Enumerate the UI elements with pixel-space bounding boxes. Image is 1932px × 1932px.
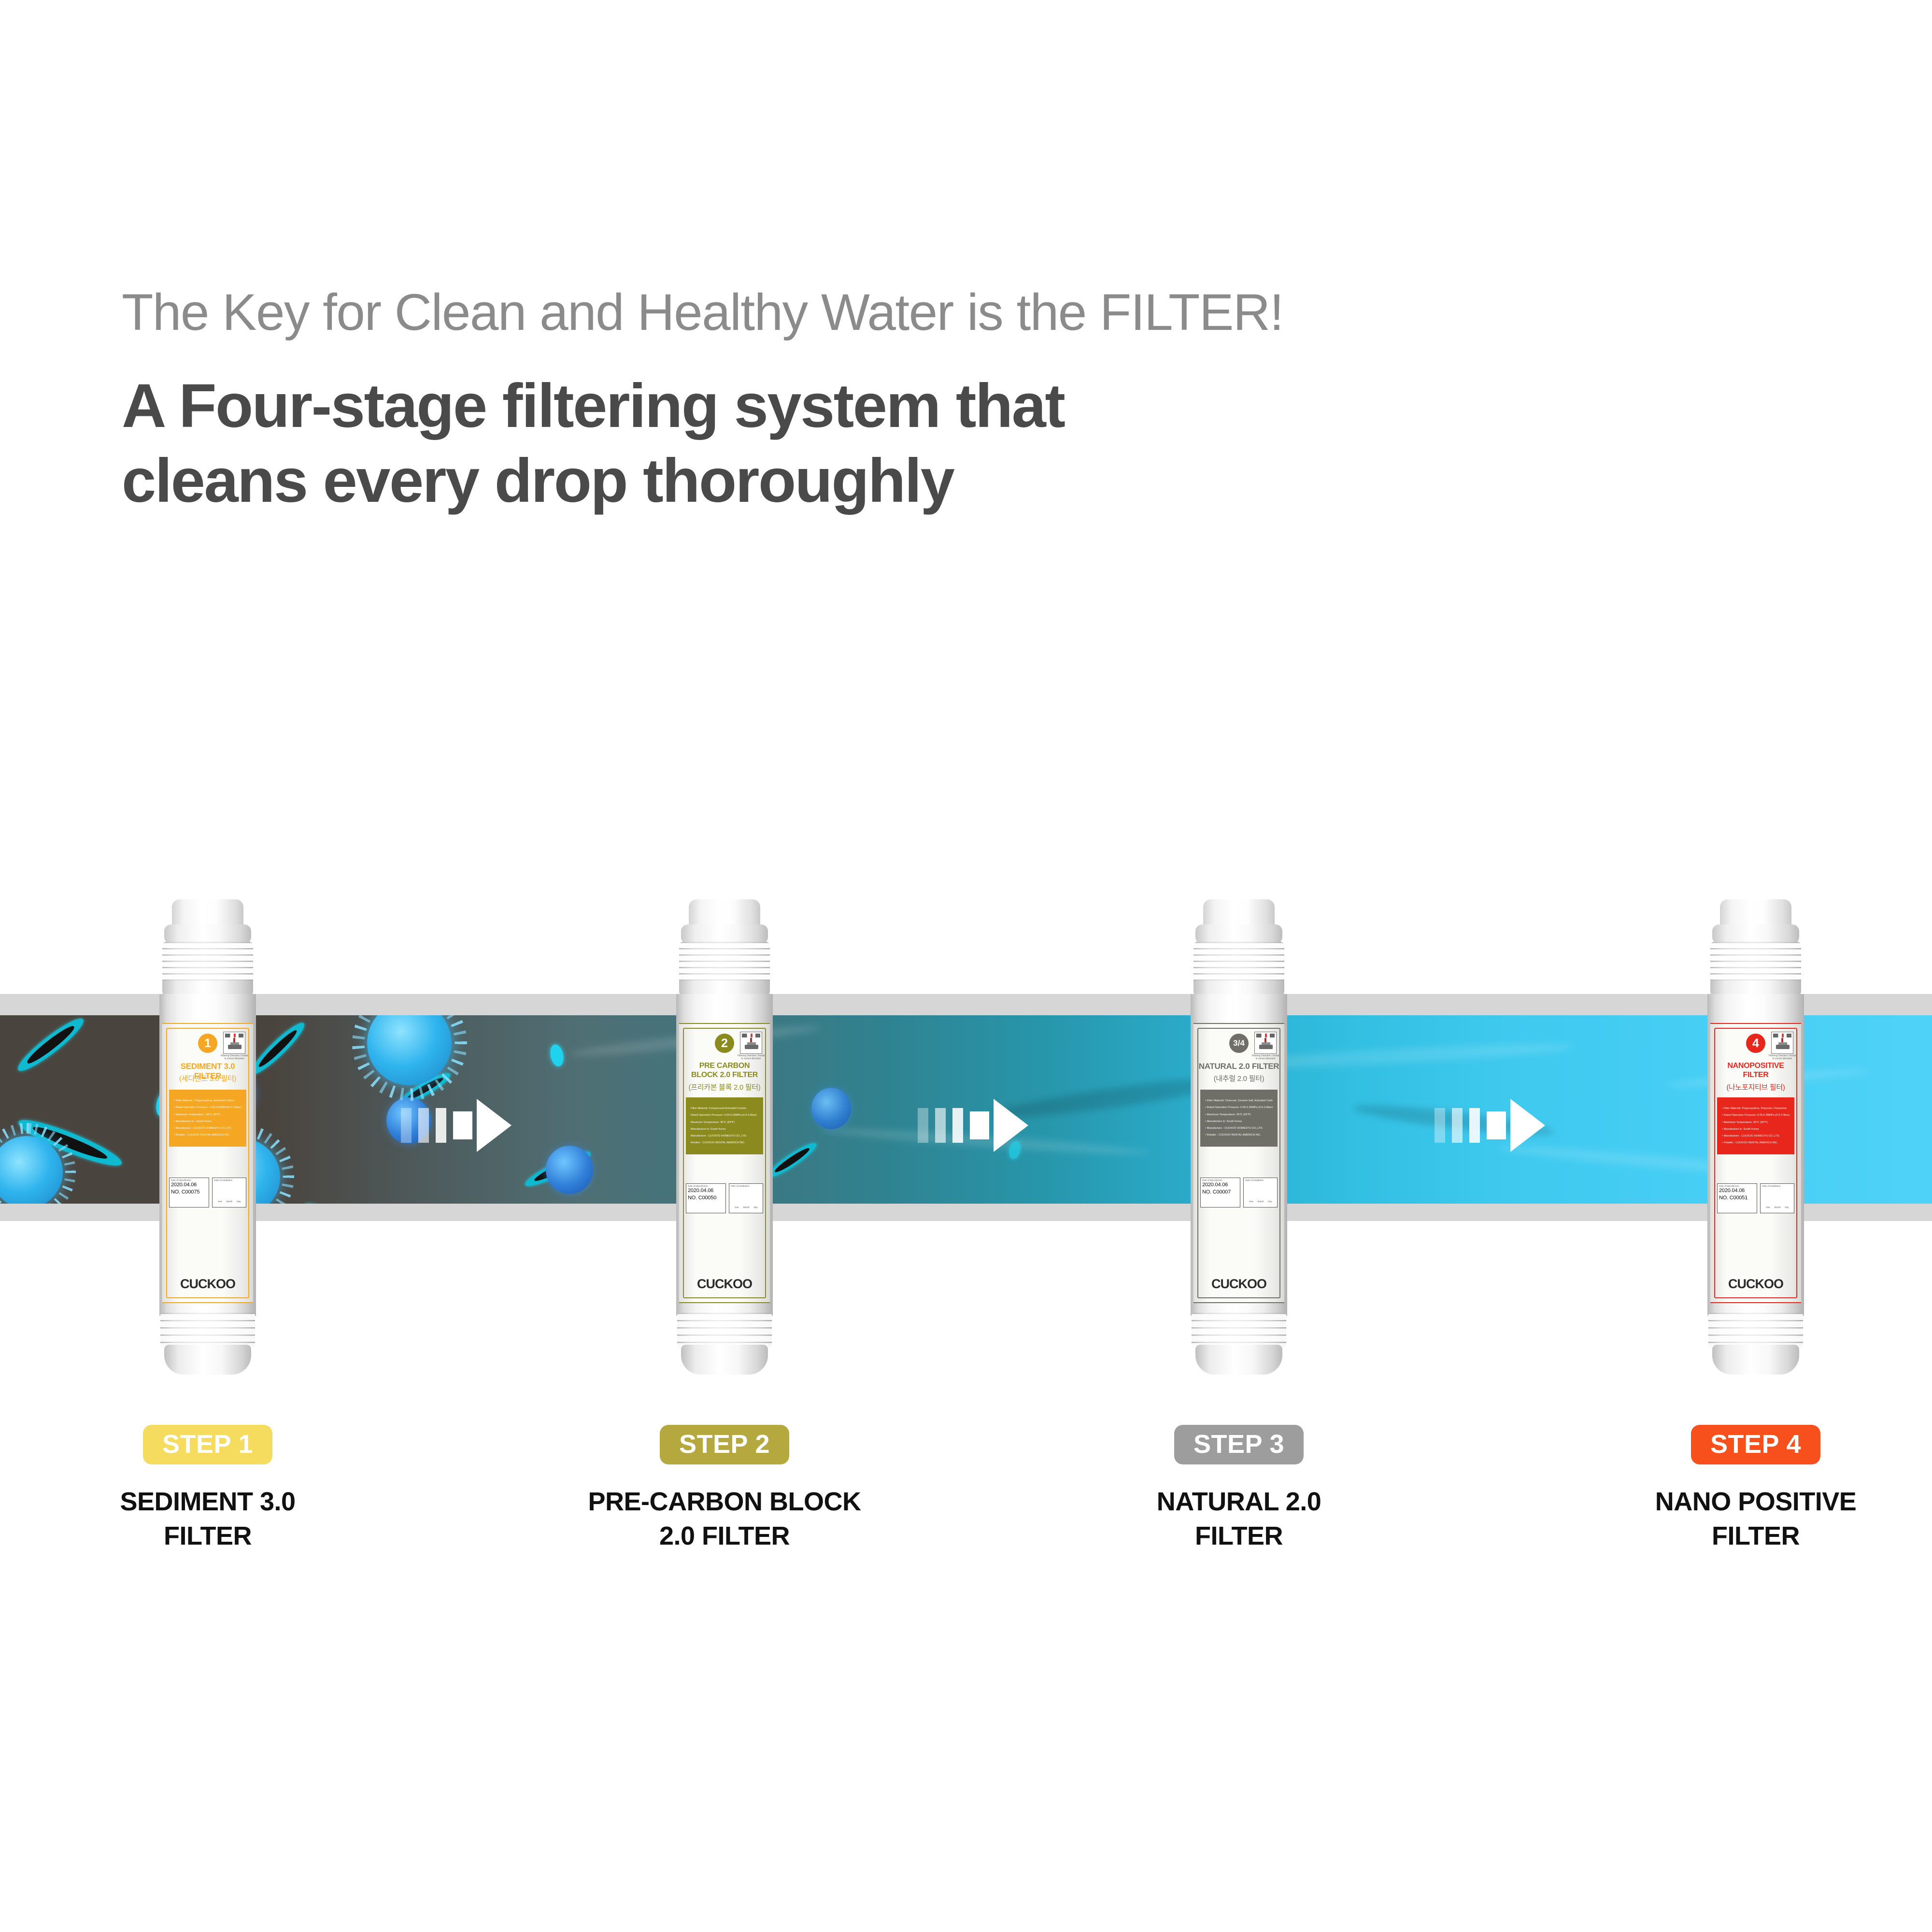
label-title-line: NATURAL 2.0 FILTER: [1198, 1062, 1279, 1071]
spec-line: • Retailer : CUCKOO RENTAL AMERICA INC.: [1722, 1139, 1790, 1146]
date-rule-label: Year: [218, 1200, 222, 1203]
installation-date-label: Date of Installation: [731, 1185, 761, 1187]
spec-line: Filter Material: Compressed Activated Ca…: [691, 1105, 758, 1112]
step-caption-line: FILTER: [1601, 1519, 1910, 1553]
bacteria-icon: [14, 1015, 88, 1077]
installation-date-box: Date of InstallationYearMonthDay: [1243, 1178, 1278, 1207]
label-title: NATURAL 2.0 FILTER: [1198, 1062, 1279, 1071]
label-korean-title: (내추럴 2.0 필터): [1198, 1073, 1279, 1083]
arrow-trail-bar: [401, 1108, 412, 1143]
spec-line: • Manufacture : CUCKOO HOMESYS CO.,LTD.: [174, 1125, 241, 1132]
cartridge-threads: [1710, 942, 1801, 983]
serial-number: NO. C00051: [1719, 1194, 1755, 1202]
spec-line: • Rated Operation Pressure: 0.05-0.39MPa…: [1205, 1104, 1273, 1111]
spec-line: • Rated Operation Pressure: 0.05-0.39MPa…: [1722, 1112, 1790, 1119]
cartridge-foot-ring: [160, 1313, 255, 1348]
filter-cartridge-2[interactable]: 2Filtering Direction / Install in correc…: [668, 899, 781, 1392]
arrow-head-icon: [994, 1099, 1028, 1152]
spec-line: • Manufacture in: South Korea: [1722, 1126, 1790, 1133]
manufacture-date-box: Date of Manufacture2020.04.06NO. C00051: [1717, 1183, 1757, 1213]
label-korean-title: (나노포지티브 필터): [1715, 1082, 1796, 1092]
bacteria-icon: [301, 1197, 390, 1204]
icon-top-marks: [1773, 1034, 1791, 1037]
arrow-trail-bar: [952, 1108, 963, 1143]
installation-date-label: Date of Installation: [1245, 1179, 1276, 1181]
flow-arrow-1: [401, 1099, 511, 1152]
install-direction-icon: [740, 1032, 762, 1054]
brand-logo: CUCKOO: [679, 1277, 770, 1292]
headline-line-2: cleans every drop thoroughly: [122, 444, 1716, 519]
step-caption-line: SEDIMENT 3.0: [53, 1485, 362, 1519]
label-step-number: 1: [198, 1034, 217, 1053]
virus-particle-icon: [811, 1088, 851, 1129]
manufacture-date-box: Date of Manufacture2020.04.06NO. C00075: [169, 1178, 209, 1207]
date-rule-label: Month: [1258, 1200, 1264, 1203]
label-korean-title: (프리카본 블록 2.0 필터): [684, 1082, 765, 1092]
arrow-trail-bar: [1435, 1108, 1445, 1143]
cartridge-foot-ring: [1192, 1313, 1286, 1348]
installation-date-box: Date of InstallationYearMonthDay: [729, 1183, 763, 1213]
step-caption-line: 2.0 FILTER: [570, 1519, 879, 1553]
brand-logo: CUCKOO: [162, 1277, 253, 1292]
microbe-icon: [549, 1043, 566, 1067]
step-caption-line: FILTER: [1084, 1519, 1393, 1553]
cartridge-threads: [162, 942, 253, 983]
step-caption-1: SEDIMENT 3.0 FILTER: [53, 1485, 362, 1554]
step-column-3: STEP 3 NATURAL 2.0 FILTER: [1084, 1425, 1393, 1554]
arrow-trail-bar: [418, 1108, 429, 1143]
date-rule-label: Year: [735, 1206, 739, 1208]
cartridge-foot-ring: [1708, 1313, 1803, 1348]
spec-line: • Manufacture in : South Korea: [174, 1118, 241, 1125]
virus-particle-icon: [546, 1146, 593, 1194]
arrow-head-icon: [477, 1099, 511, 1152]
filter-cartridge-1[interactable]: 1Filtering Direction / Install in correc…: [152, 899, 264, 1392]
icon-base: [1259, 1045, 1273, 1049]
label-title-line: FILTER: [1715, 1071, 1796, 1080]
label-korean-title: (세디멘트 3.0 필터): [167, 1073, 248, 1083]
icon-top-marks: [742, 1034, 760, 1037]
arrow-trail-bar: [918, 1108, 928, 1143]
manufacture-date-value: 2020.04.06: [688, 1187, 724, 1194]
headline-line-1: A Four-stage filtering system that: [122, 369, 1716, 444]
step-caption-line: PRE-CARBON BLOCK: [570, 1485, 879, 1519]
cartridge-label: 4Filtering Direction / Install in correc…: [1710, 1023, 1801, 1303]
spec-line: • Filter Material: Polypropylene, Polyes…: [1722, 1105, 1790, 1112]
install-direction-caption: Filtering Direction / Install in correct…: [737, 1054, 765, 1061]
label-spec-block: • Filter Material: Polypropylene, Polyes…: [1717, 1097, 1794, 1154]
step-badge-2: STEP 2: [660, 1425, 789, 1464]
date-rule-label: Month: [1775, 1206, 1781, 1208]
step-caption-line: NATURAL 2.0: [1084, 1485, 1393, 1519]
cartridge-collar: [1195, 924, 1282, 944]
cartridge-neck: [1720, 899, 1791, 928]
arrow-trail-bar: [1469, 1108, 1480, 1143]
label-step-number: 4: [1746, 1034, 1765, 1053]
spec-line: • Retailer : CUCKOO RENTAL AMERICA INC.: [1205, 1132, 1273, 1138]
arrow-stem: [1487, 1111, 1506, 1139]
manufacture-date-box: Date of Manufacture2020.04.06NO. C00050: [686, 1183, 726, 1213]
install-direction-icon: [223, 1032, 245, 1054]
cartridge-threads: [1193, 942, 1284, 983]
spec-line: Maximum Temperature: 35℃ (95℉): [691, 1119, 758, 1126]
icon-base: [228, 1045, 241, 1049]
install-direction-caption: Filtering Direction / Install in correct…: [1251, 1054, 1279, 1061]
arrow-stem: [970, 1111, 989, 1139]
date-rule-label: Day: [1785, 1206, 1789, 1208]
cartridge-collar: [1712, 924, 1799, 944]
install-direction-icon: [1254, 1032, 1277, 1054]
manufacture-date-box: Date of Manufacture2020.04.06NO. C00007: [1200, 1178, 1240, 1207]
step-caption-4: NANO POSITIVE FILTER: [1601, 1485, 1910, 1554]
step-caption-3: NATURAL 2.0 FILTER: [1084, 1485, 1393, 1554]
cartridge-label: 2Filtering Direction / Install in correc…: [679, 1023, 770, 1303]
label-spec-block: • Filter Material : Polypropylene, Activ…: [169, 1090, 246, 1147]
installation-date-rule: YearMonthDay: [1763, 1206, 1791, 1208]
installation-date-box: Date of InstallationYearMonthDay: [212, 1178, 246, 1207]
band-border-top: [0, 994, 1932, 1015]
installation-date-rule: YearMonthDay: [732, 1206, 760, 1208]
step-column-2: STEP 2 PRE-CARBON BLOCK 2.0 FILTER: [570, 1425, 879, 1554]
flow-arrow-2: [918, 1099, 1028, 1152]
installation-date-box: Date of InstallationYearMonthDay: [1760, 1183, 1794, 1213]
manufacture-date-value: 2020.04.06: [171, 1181, 207, 1189]
cartridge-neck: [1203, 899, 1275, 928]
installation-date-label: Date of Installation: [1762, 1185, 1792, 1187]
virus-icon: [0, 1136, 63, 1204]
filter-cartridge-3[interactable]: 3/4Filtering Direction / Install in corr…: [1183, 899, 1295, 1392]
cartridge-threads: [679, 942, 770, 983]
date-rule-label: Year: [1249, 1200, 1253, 1203]
cartridge-base-cap: [164, 1345, 251, 1375]
cartridge-foot-ring: [677, 1313, 772, 1348]
serial-number: NO. C00075: [171, 1189, 207, 1196]
heading-block: The Key for Clean and Healthy Water is t…: [122, 285, 1716, 519]
manufacture-date-value: 2020.04.06: [1719, 1187, 1755, 1194]
icon-base: [745, 1045, 758, 1049]
spec-line: • Filter Material: Charcoal, Ceramic bal…: [1205, 1097, 1273, 1104]
spec-line: Manufacture : CUCKOO HOMESYS CO.,LTD.: [691, 1133, 758, 1139]
install-direction-caption: Filtering Direction / Install in correct…: [1768, 1054, 1796, 1061]
cartridge-collar: [681, 924, 768, 944]
spec-line: Manufacture in: South Korea: [691, 1126, 758, 1133]
brand-logo: CUCKOO: [1710, 1277, 1801, 1292]
label-title: NANOPOSITIVEFILTER: [1715, 1062, 1796, 1080]
icon-top-marks: [225, 1034, 243, 1037]
cartridge-base-cap: [1195, 1345, 1282, 1375]
spec-line: Retailer : CUCKOO RENTAL AMERICA INC.: [691, 1139, 758, 1146]
step-badge-3: STEP 3: [1174, 1425, 1304, 1464]
step-caption-line: FILTER: [53, 1519, 362, 1553]
cartridge-neck: [689, 899, 760, 928]
spec-line: • Filter Material : Polypropylene, Activ…: [174, 1097, 241, 1104]
serial-number: NO. C00007: [1202, 1189, 1238, 1196]
step-badge-1: STEP 1: [143, 1425, 272, 1464]
spec-line: • Manufacture : CUCKOO HOMESYS CO.,LTD.: [1722, 1133, 1790, 1139]
spec-line: • Maximum Temperature : 35℃ (95℉): [174, 1111, 241, 1118]
label-title: PRE CARBONBLOCK 2.0 FILTER: [684, 1062, 765, 1080]
install-direction-caption: Filtering Direction / Install in correct…: [220, 1054, 248, 1061]
cartridge-label: 1Filtering Direction / Install in correc…: [162, 1023, 253, 1303]
step-caption-line: NANO POSITIVE: [1601, 1485, 1910, 1519]
page-title: A Four-stage filtering system that clean…: [122, 369, 1716, 519]
icon-top-marks: [1256, 1034, 1275, 1037]
step-column-1: STEP 1 SEDIMENT 3.0 FILTER: [53, 1425, 362, 1554]
cartridge-base-cap: [681, 1345, 768, 1375]
arrow-trail-bar: [1452, 1108, 1463, 1143]
date-rule-label: Month: [743, 1206, 750, 1208]
install-direction-icon: [1771, 1032, 1793, 1054]
spec-line: • Manufacture in: South Korea: [1205, 1118, 1273, 1125]
date-rule-label: Day: [1268, 1200, 1272, 1203]
label-title-line: BLOCK 2.0 FILTER: [684, 1071, 765, 1080]
label-title-line: NANOPOSITIVE: [1715, 1062, 1796, 1071]
date-rule-label: Day: [753, 1206, 757, 1208]
step-column-4: STEP 4 NANO POSITIVE FILTER: [1601, 1425, 1910, 1554]
spec-line: • Retailer : CUCKOO RENTAL AMERICA INC.: [174, 1132, 241, 1138]
manufacture-date-value: 2020.04.06: [1202, 1181, 1238, 1189]
spec-line: • Maximum Temperature: 35℃ (95℉): [1722, 1119, 1790, 1126]
label-title-line: PRE CARBON: [684, 1062, 765, 1071]
label-spec-block: Filter Material: Compressed Activated Ca…: [686, 1097, 763, 1154]
arrow-head-icon: [1510, 1099, 1545, 1152]
arrow-trail-bar: [935, 1108, 946, 1143]
label-date-block: Date of Manufacture2020.04.06NO. C00075D…: [169, 1178, 246, 1207]
label-date-block: Date of Manufacture2020.04.06NO. C00007D…: [1200, 1178, 1278, 1207]
cartridge-collar: [164, 924, 251, 944]
spec-line: • Rated Operation Pressure : 0.05-0.39MP…: [174, 1104, 241, 1111]
kicker-text: The Key for Clean and Healthy Water is t…: [122, 285, 1716, 339]
date-rule-label: Month: [227, 1200, 233, 1203]
label-step-number: 3/4: [1229, 1034, 1249, 1053]
flow-arrow-3: [1435, 1099, 1545, 1152]
band-border-bottom: [0, 1204, 1932, 1221]
cartridge-label: 3/4Filtering Direction / Install in corr…: [1193, 1023, 1284, 1303]
icon-base: [1776, 1045, 1790, 1049]
date-rule-label: Year: [1766, 1206, 1770, 1208]
label-date-block: Date of Manufacture2020.04.06NO. C00050D…: [686, 1183, 763, 1213]
cartridge-base-cap: [1712, 1345, 1799, 1375]
arrow-stem: [453, 1111, 472, 1139]
installation-date-rule: YearMonthDay: [215, 1200, 243, 1203]
spec-line: • Maximum Temperature: 35℃ (95℉): [1205, 1111, 1273, 1118]
spec-line: Rated Operation Pressure: 0.05-0.39MPa (…: [691, 1112, 758, 1119]
label-date-block: Date of Manufacture2020.04.06NO. C00051D…: [1717, 1183, 1794, 1213]
installation-date-rule: YearMonthDay: [1247, 1200, 1274, 1203]
label-spec-block: • Filter Material: Charcoal, Ceramic bal…: [1200, 1090, 1278, 1147]
serial-number: NO. C00050: [688, 1194, 724, 1202]
cartridge-neck: [172, 899, 243, 928]
step-caption-2: PRE-CARBON BLOCK 2.0 FILTER: [570, 1485, 879, 1554]
date-rule-label: Day: [237, 1200, 241, 1203]
spec-line: • Manufacture : CUCKOO HOMESYS CO.,LTD.: [1205, 1125, 1273, 1132]
step-badge-4: STEP 4: [1691, 1425, 1820, 1464]
filter-cartridge-4[interactable]: 4Filtering Direction / Install in correc…: [1700, 899, 1812, 1392]
installation-date-label: Date of Installation: [214, 1179, 244, 1181]
virus-icon: [367, 1015, 452, 1085]
label-step-number: 2: [715, 1034, 734, 1053]
brand-logo: CUCKOO: [1193, 1277, 1284, 1292]
arrow-trail-bar: [436, 1108, 446, 1143]
